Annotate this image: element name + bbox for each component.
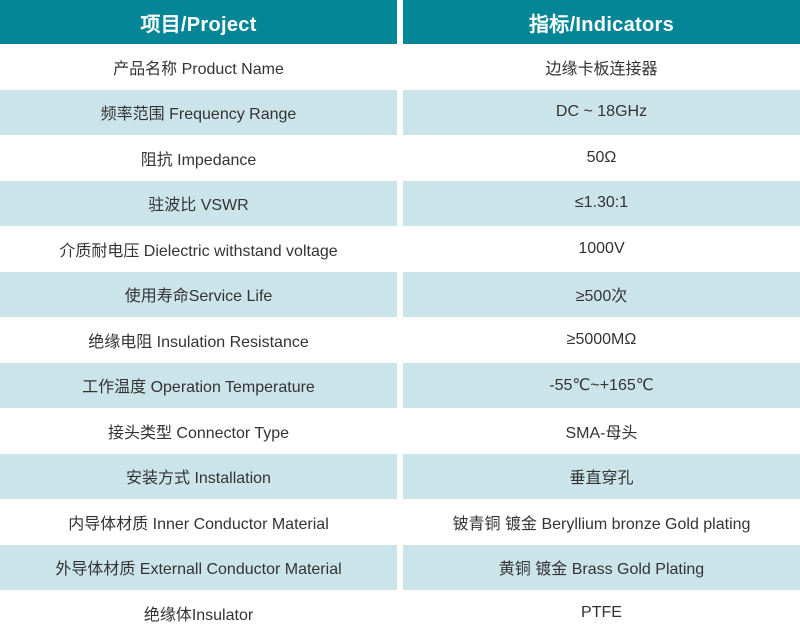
table-row: 工作温度 Operation Temperature-55℃~+165℃ bbox=[0, 363, 800, 409]
table-row: 驻波比 VSWR≤1.30:1 bbox=[0, 181, 800, 227]
table-row: 频率范围 Frequency RangeDC ~ 18GHz bbox=[0, 90, 800, 136]
cell-project: 绝缘电阻 Insulation Resistance bbox=[0, 317, 397, 363]
cell-project: 阻抗 Impedance bbox=[0, 135, 397, 181]
table-body: 产品名称 Product Name边缘卡板连接器频率范围 Frequency R… bbox=[0, 44, 800, 636]
header-row: 项目/Project 指标/Indicators bbox=[0, 0, 800, 44]
cell-project: 介质耐电压 Dielectric withstand voltage bbox=[0, 226, 397, 272]
table-row: 产品名称 Product Name边缘卡板连接器 bbox=[0, 44, 800, 90]
table-row: 绝缘电阻 Insulation Resistance≥5000MΩ bbox=[0, 317, 800, 363]
cell-indicator: 边缘卡板连接器 bbox=[403, 44, 800, 90]
table-row: 安装方式 Installation垂直穿孔 bbox=[0, 454, 800, 500]
cell-project: 内导体材质 Inner Conductor Material bbox=[0, 499, 397, 545]
table-row: 外导体材质 Externall Conductor Material黄铜 镀金 … bbox=[0, 545, 800, 591]
cell-project: 频率范围 Frequency Range bbox=[0, 90, 397, 136]
cell-indicator: ≥500次 bbox=[403, 272, 800, 318]
cell-project: 绝缘体Insulator bbox=[0, 590, 397, 636]
cell-indicator: ≤1.30:1 bbox=[403, 181, 800, 227]
cell-project: 安装方式 Installation bbox=[0, 454, 397, 500]
cell-project: 驻波比 VSWR bbox=[0, 181, 397, 227]
cell-indicator: 铍青铜 镀金 Beryllium bronze Gold plating bbox=[403, 499, 800, 545]
table-header: 项目/Project 指标/Indicators bbox=[0, 0, 800, 44]
table-row: 绝缘体InsulatorPTFE bbox=[0, 590, 800, 636]
cell-project: 接头类型 Connector Type bbox=[0, 408, 397, 454]
column-header-project: 项目/Project bbox=[0, 0, 397, 44]
cell-indicator: 垂直穿孔 bbox=[403, 454, 800, 500]
table-row: 接头类型 Connector TypeSMA-母头 bbox=[0, 408, 800, 454]
cell-indicator: ≥5000MΩ bbox=[403, 317, 800, 363]
cell-project: 外导体材质 Externall Conductor Material bbox=[0, 545, 397, 591]
table-row: 内导体材质 Inner Conductor Material铍青铜 镀金 Ber… bbox=[0, 499, 800, 545]
cell-indicator: PTFE bbox=[403, 590, 800, 636]
cell-project: 产品名称 Product Name bbox=[0, 44, 397, 90]
cell-indicator: 1000V bbox=[403, 226, 800, 272]
cell-indicator: 50Ω bbox=[403, 135, 800, 181]
cell-project: 使用寿命Service Life bbox=[0, 272, 397, 318]
table-row: 介质耐电压 Dielectric withstand voltage1000V bbox=[0, 226, 800, 272]
table-row: 使用寿命Service Life≥500次 bbox=[0, 272, 800, 318]
column-header-indicators: 指标/Indicators bbox=[403, 0, 800, 44]
table-row: 阻抗 Impedance50Ω bbox=[0, 135, 800, 181]
cell-indicator: DC ~ 18GHz bbox=[403, 90, 800, 136]
cell-indicator: -55℃~+165℃ bbox=[403, 363, 800, 409]
cell-project: 工作温度 Operation Temperature bbox=[0, 363, 397, 409]
cell-indicator: 黄铜 镀金 Brass Gold Plating bbox=[403, 545, 800, 591]
specification-table: 项目/Project 指标/Indicators 产品名称 Product Na… bbox=[0, 0, 800, 636]
cell-indicator: SMA-母头 bbox=[403, 408, 800, 454]
